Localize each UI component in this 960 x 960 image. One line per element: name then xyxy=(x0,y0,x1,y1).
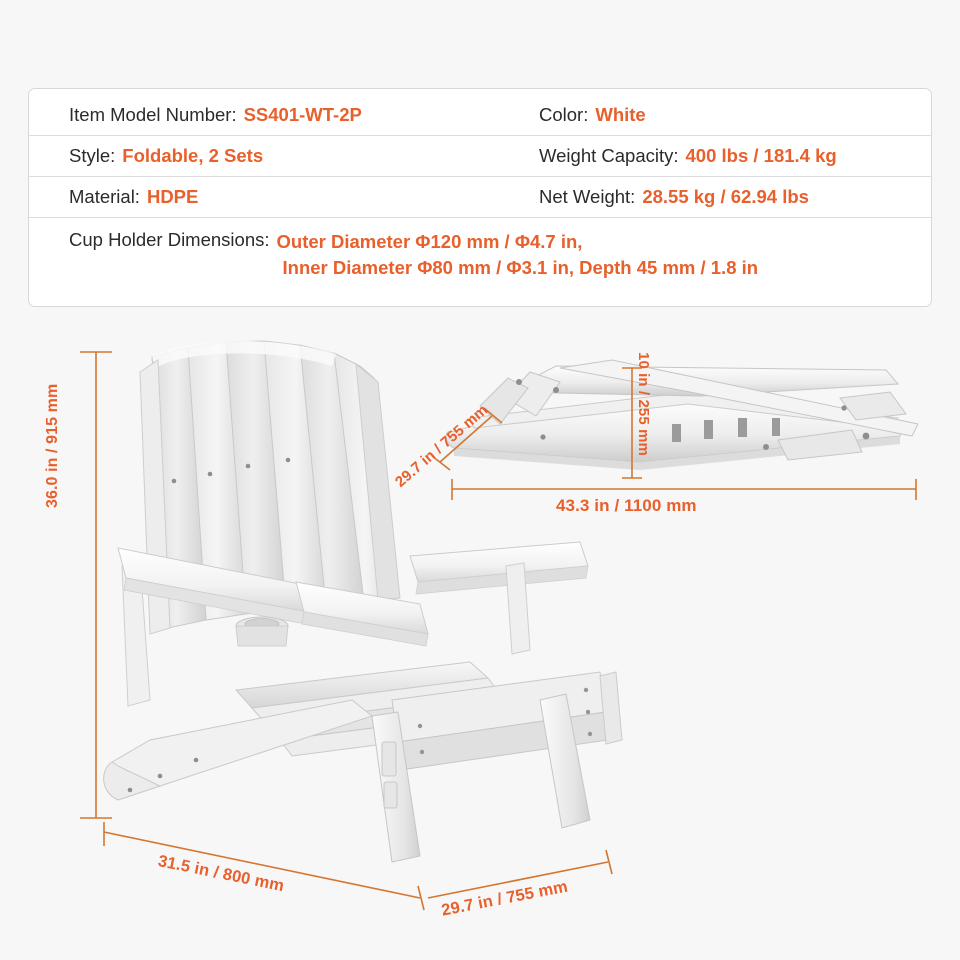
chair-left-runner xyxy=(112,700,372,800)
spec-cell-cup-holder: Cup Holder Dimensions: Outer Diameter Φ1… xyxy=(69,229,758,282)
chair-right-armrest xyxy=(410,542,588,582)
main-height-dimension-label: 36.0 in / 915 mm xyxy=(44,384,62,508)
spec-cell-net-weight: Net Weight: 28.55 kg / 62.94 lbs xyxy=(539,186,897,208)
spec-label: Cup Holder Dimensions: xyxy=(69,229,270,251)
folded-back-panel xyxy=(506,366,898,396)
spec-value: Foldable, 2 Sets xyxy=(122,145,263,167)
chair-hinges xyxy=(382,742,397,808)
cup-holder-line-2: Inner Diameter Φ80 mm / Φ3.1 in, Depth 4… xyxy=(277,257,759,278)
spec-cell-material: Material: HDPE xyxy=(69,186,539,208)
spec-label: Net Weight: xyxy=(539,186,635,208)
spec-label: Color: xyxy=(539,104,588,126)
folded-length-dimension-label: 43.3 in / 1100 mm xyxy=(556,496,697,516)
product-spec-sheet: Item Model Number: SS401-WT-2P Color: Wh… xyxy=(0,0,960,960)
spec-label: Weight Capacity: xyxy=(539,145,679,167)
folded-leg-a xyxy=(506,372,560,416)
specification-card: Item Model Number: SS401-WT-2P Color: Wh… xyxy=(28,88,932,307)
spec-value: HDPE xyxy=(147,186,198,208)
cup-holder xyxy=(236,617,288,646)
cup-holder-line-1: Outer Diameter Φ120 mm / Φ4.7 in, xyxy=(277,231,583,252)
folded-bottom-slab xyxy=(446,402,906,462)
spec-row-cup-holder: Cup Holder Dimensions: Outer Diameter Φ1… xyxy=(29,218,931,296)
chair-back-right-rail xyxy=(356,364,400,600)
chair-left-armrest xyxy=(118,548,308,612)
folded-slat-edges xyxy=(672,418,780,442)
folded-hinge-dots xyxy=(516,379,869,450)
chair-front-right-leg xyxy=(540,694,590,828)
spec-value: 400 lbs / 181.4 kg xyxy=(686,145,837,167)
spec-cell-style: Style: Foldable, 2 Sets xyxy=(69,145,539,167)
spec-label: Item Model Number: xyxy=(69,104,237,126)
folded-arm-rail xyxy=(560,360,918,436)
assembled-chair-illustration xyxy=(104,341,622,862)
seat-rail-screws xyxy=(418,688,592,754)
spec-value: 28.55 kg / 62.94 lbs xyxy=(642,186,809,208)
chair-rear-right-leg xyxy=(600,672,622,744)
spec-label: Style: xyxy=(69,145,115,167)
spec-row: Material: HDPE Net Weight: 28.55 kg / 62… xyxy=(29,177,931,218)
chair-front-left-leg xyxy=(372,712,420,862)
cup-holder-values: Outer Diameter Φ120 mm / Φ4.7 in, Inner … xyxy=(277,229,759,282)
chair-right-arm-post xyxy=(506,563,530,654)
folded-seat-layer xyxy=(470,392,898,428)
folded-depth-dimension-label: 29.7 in / 755 mm xyxy=(392,401,491,490)
folded-chair-dimension-lines xyxy=(432,368,916,500)
runner-screws xyxy=(128,758,199,793)
chair-rear-left-post xyxy=(122,560,150,706)
spec-cell-color: Color: White xyxy=(539,104,897,126)
spec-label: Material: xyxy=(69,186,140,208)
main-chair-dimension-lines xyxy=(80,352,612,910)
spec-row: Item Model Number: SS401-WT-2P Color: Wh… xyxy=(29,95,931,136)
folded-chair-illustration xyxy=(446,360,918,470)
folded-thickness-dimension-label: 10 in / 255 mm xyxy=(635,352,652,456)
back-screw-dots xyxy=(172,458,291,484)
main-depth-dimension-label: 31.5 in / 800 mm xyxy=(156,852,285,896)
spec-row: Style: Foldable, 2 Sets Weight Capacity:… xyxy=(29,136,931,177)
chair-right-seat-rail xyxy=(392,672,606,742)
spec-value: SS401-WT-2P xyxy=(244,104,362,126)
chair-seat-slats xyxy=(236,662,522,756)
main-width-dimension-label: 29.7 in / 755 mm xyxy=(440,878,569,921)
spec-cell-model: Item Model Number: SS401-WT-2P xyxy=(69,104,539,126)
chair-back-slats xyxy=(152,341,396,628)
spec-cell-weight-capacity: Weight Capacity: 400 lbs / 181.4 kg xyxy=(539,145,897,167)
chair-back-left-rail xyxy=(140,360,170,634)
spec-value: White xyxy=(595,104,645,126)
